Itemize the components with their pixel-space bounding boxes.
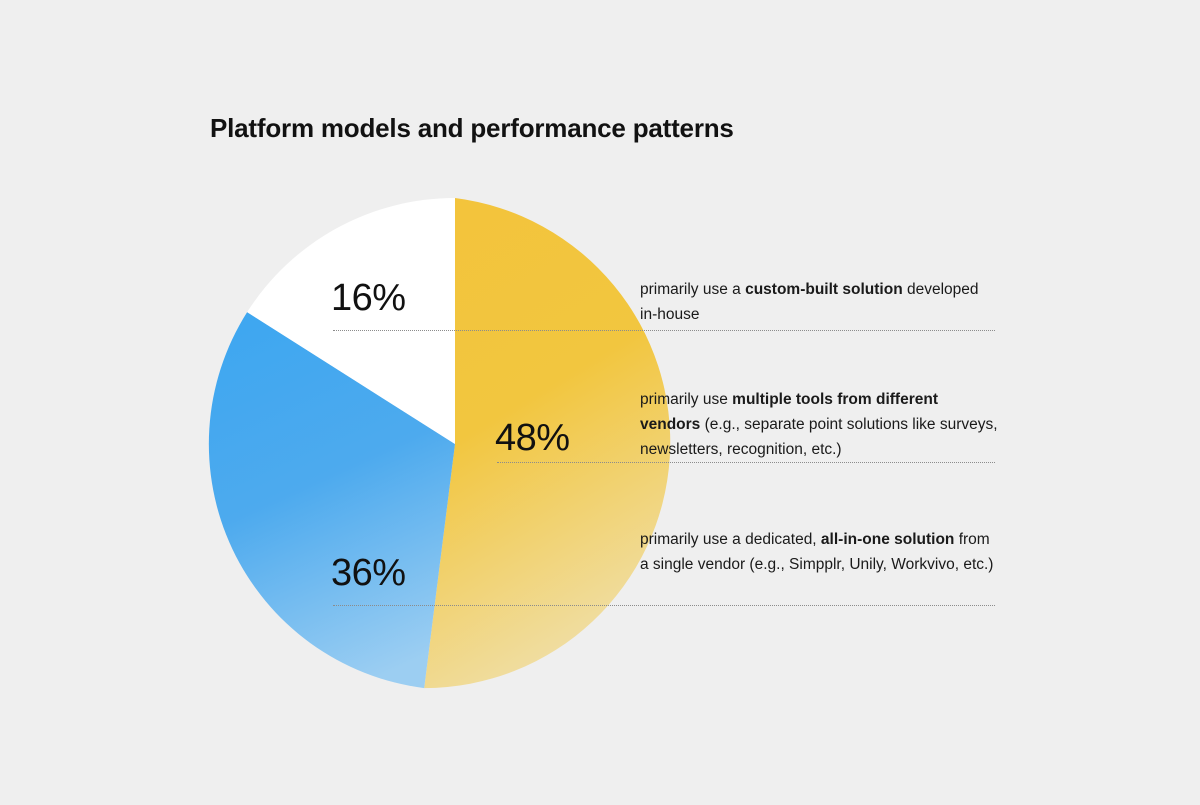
legend-48-prefix: primarily use — [640, 391, 732, 408]
legend-label-16: primarily use a custom-built solution de… — [640, 277, 1000, 327]
pie-value-48: 48% — [495, 417, 570, 460]
leader-line-16 — [333, 330, 995, 331]
legend-36-bold: all-in-one solution — [821, 531, 954, 548]
legend-16-bold: custom-built solution — [745, 281, 903, 298]
legend-36-prefix: primarily use a dedicated, — [640, 531, 821, 548]
legend-16-prefix: primarily use a — [640, 281, 745, 298]
pie-chart — [0, 0, 1200, 800]
leader-line-48 — [497, 462, 995, 463]
pie-value-16: 16% — [331, 277, 406, 320]
pie-svg — [0, 0, 1200, 800]
leader-line-36 — [333, 605, 995, 606]
legend-label-48: primarily use multiple tools from differ… — [640, 387, 1000, 462]
chart-canvas: Platform models and performance patterns — [0, 0, 1200, 800]
pie-value-36: 36% — [331, 552, 406, 595]
legend-label-36: primarily use a dedicated, all-in-one so… — [640, 527, 1000, 577]
